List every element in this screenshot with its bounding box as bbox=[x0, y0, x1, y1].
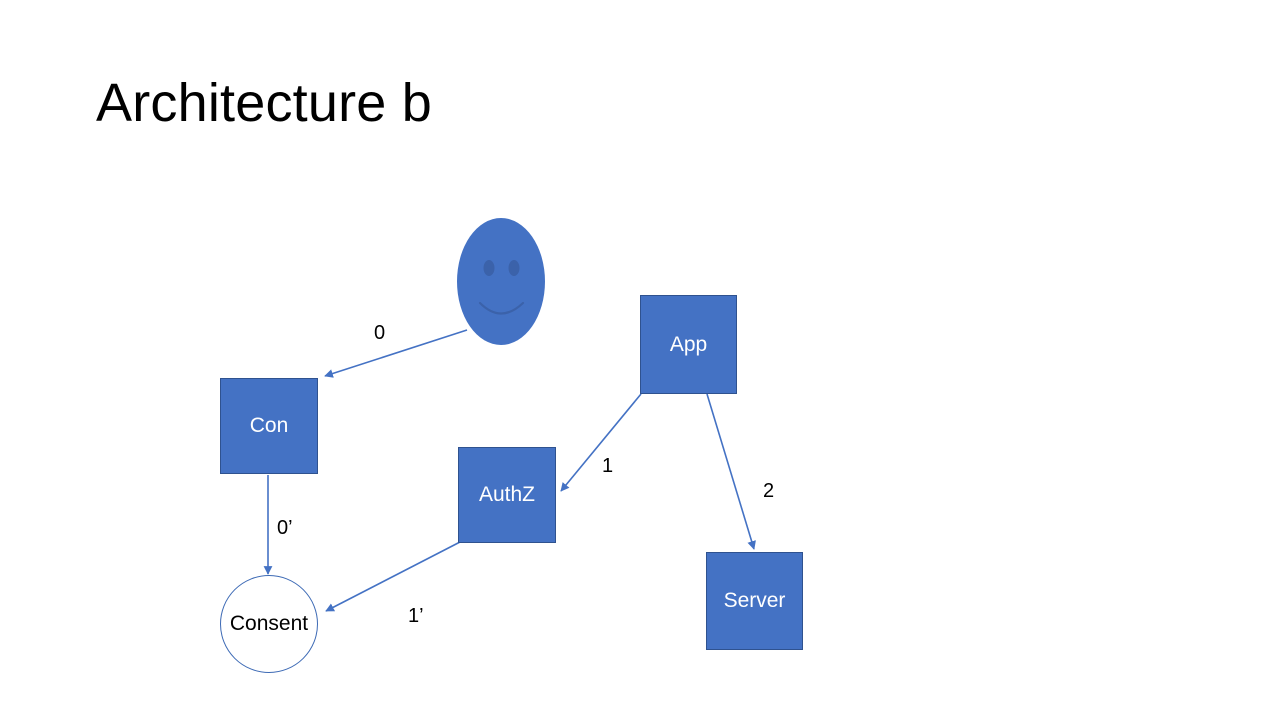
node-server[interactable]: Server bbox=[706, 552, 803, 650]
node-server-label: Server bbox=[724, 589, 786, 613]
face-eye-left bbox=[484, 260, 495, 276]
node-authz-label: AuthZ bbox=[479, 483, 535, 507]
edge-label-0: 0 bbox=[374, 322, 385, 344]
edge-label-0-prime: 0’ bbox=[277, 517, 293, 539]
node-con[interactable]: Con bbox=[220, 378, 318, 474]
slide-canvas: Architecture b 0 0’ 1 1’ 2 Con App bbox=[0, 0, 1280, 720]
node-app[interactable]: App bbox=[640, 295, 737, 394]
edge-app-to-authz bbox=[561, 394, 641, 491]
page-title: Architecture b bbox=[96, 68, 432, 138]
edge-actor-to-con bbox=[325, 330, 467, 376]
node-authz[interactable]: AuthZ bbox=[458, 447, 556, 543]
smiley-face-icon bbox=[457, 218, 545, 345]
node-consent-label: Consent bbox=[230, 612, 308, 636]
edge-app-to-server bbox=[707, 394, 754, 549]
edge-label-1: 1 bbox=[602, 455, 613, 477]
node-app-label: App bbox=[670, 333, 707, 357]
node-con-label: Con bbox=[250, 414, 289, 438]
edge-authz-to-consent bbox=[326, 542, 460, 611]
face-eye-right bbox=[509, 260, 520, 276]
face-head bbox=[457, 218, 545, 345]
edge-label-2: 2 bbox=[763, 480, 774, 502]
edge-label-1-prime: 1’ bbox=[408, 605, 424, 627]
node-consent[interactable]: Consent bbox=[220, 575, 318, 673]
